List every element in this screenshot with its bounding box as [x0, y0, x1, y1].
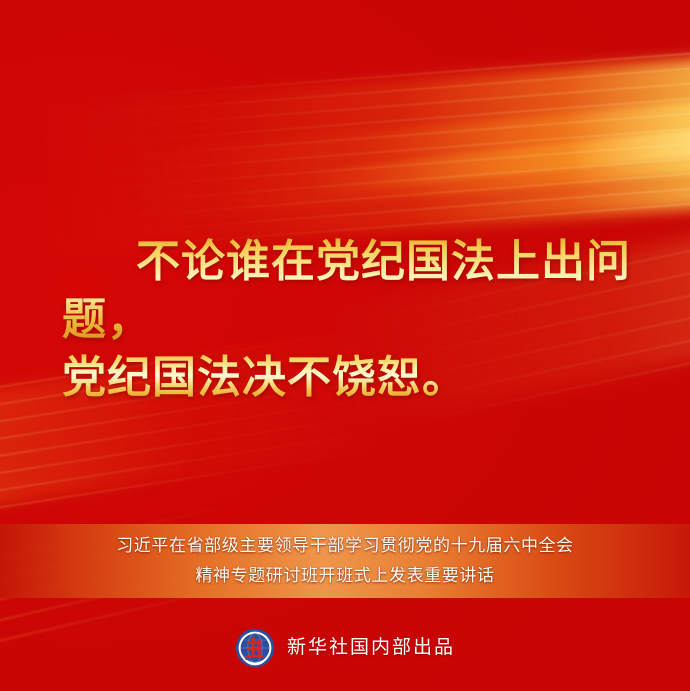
- headline-quote: 不论谁在党纪国法上出问题， 党纪国法决不饶恕。: [0, 233, 690, 407]
- footer-attribution: 新华社国内部出品: [0, 624, 690, 672]
- caption-band: 习近平在省部级主要领导干部学习贯彻党的十九届六中全会 精神专题研讨班开班式上发表…: [0, 524, 690, 598]
- headline-line-2: 党纪国法决不饶恕。: [0, 349, 690, 407]
- xinhua-news-agency-logo-icon: [235, 628, 275, 668]
- caption-line-1: 习近平在省部级主要领导干部学习贯彻党的十九届六中全会: [116, 531, 574, 561]
- poster-canvas: 不论谁在党纪国法上出问题， 党纪国法决不饶恕。 习近平在省部级主要领导干部学习贯…: [0, 0, 690, 691]
- attribution-label: 新华社国内部出品: [287, 636, 455, 660]
- caption-line-2: 精神专题研讨班开班式上发表重要讲话: [195, 561, 494, 591]
- headline-line-1: 不论谁在党纪国法上出问题，: [0, 233, 690, 349]
